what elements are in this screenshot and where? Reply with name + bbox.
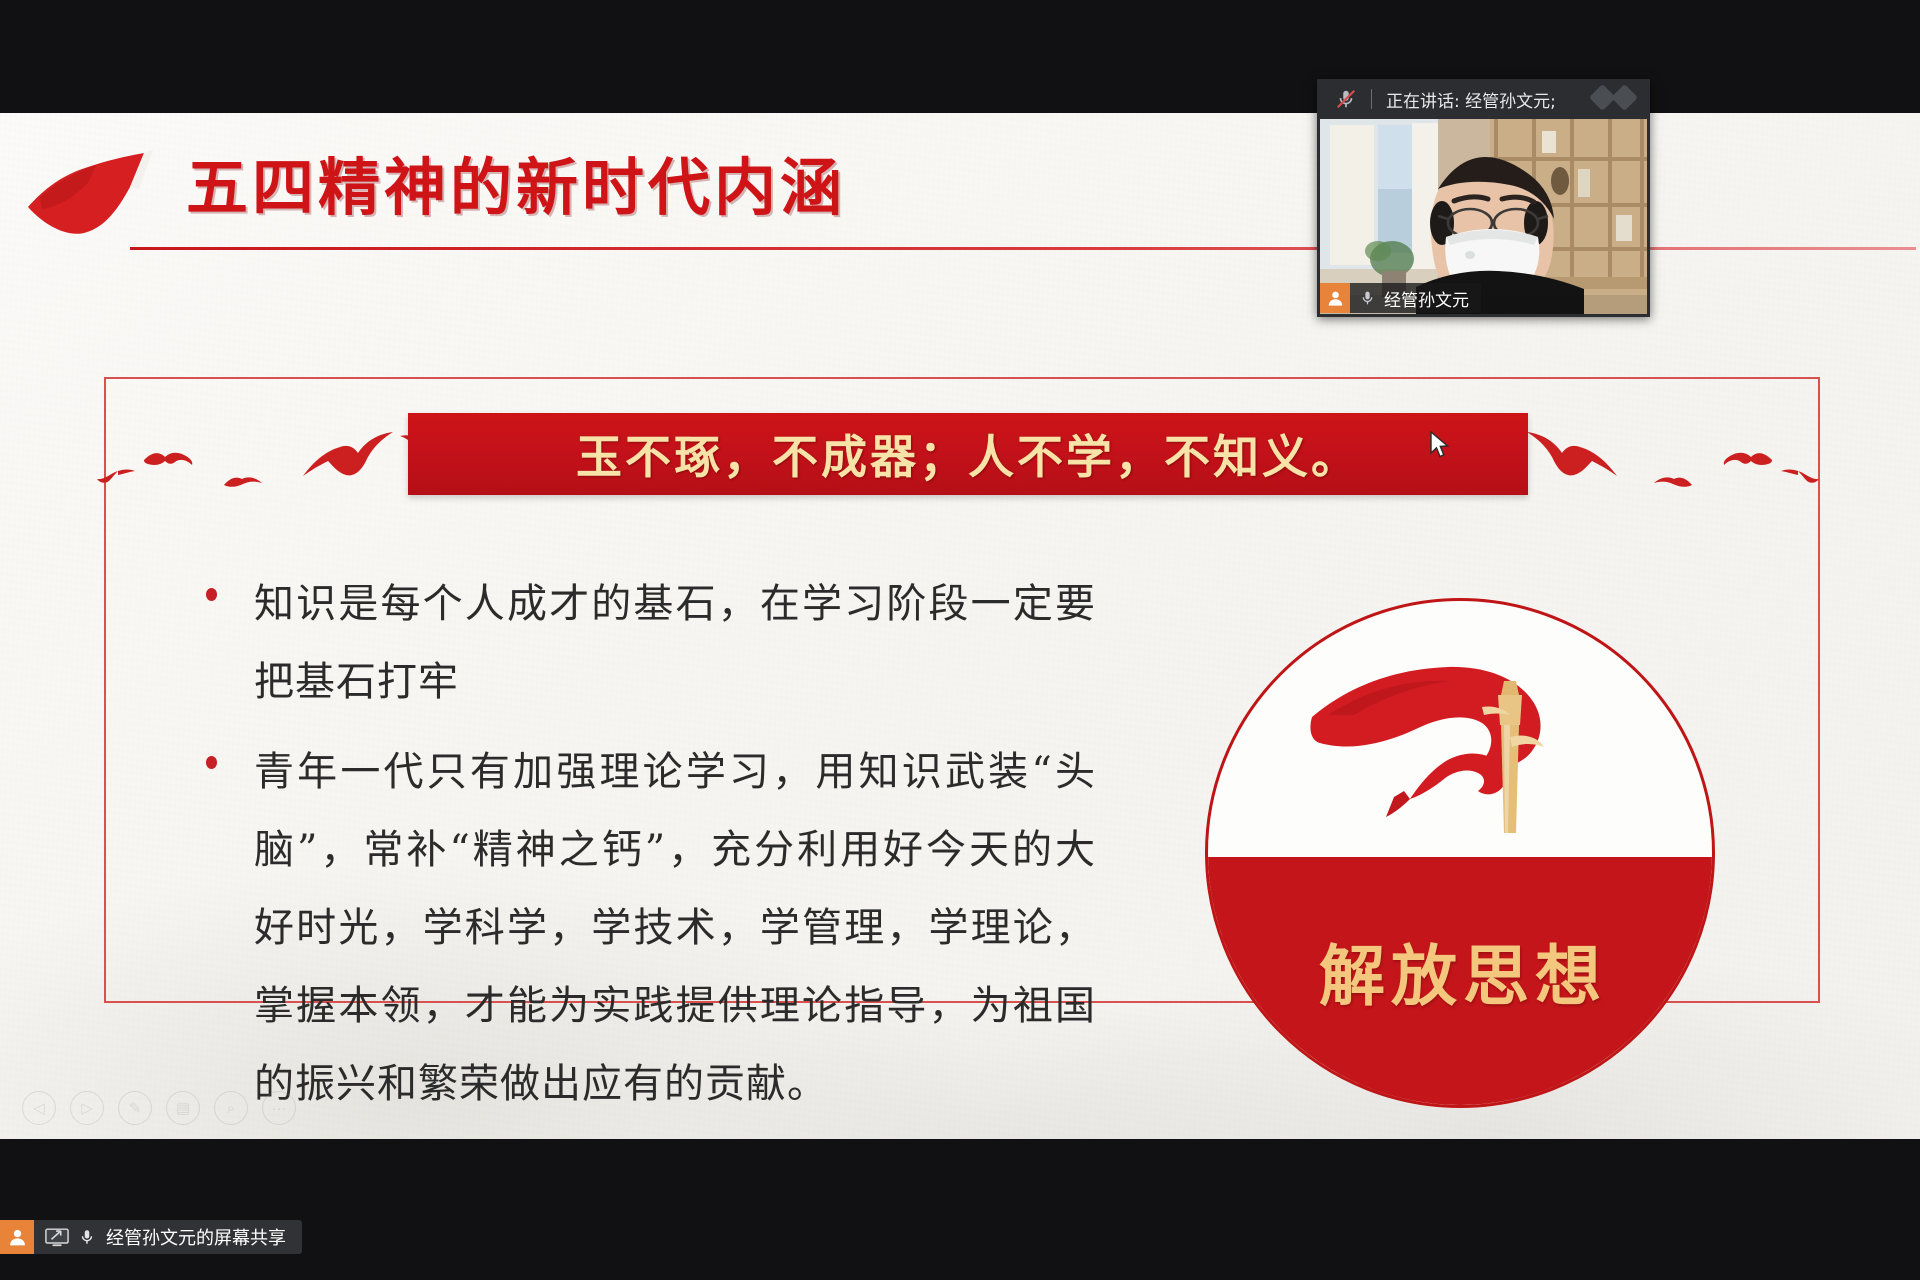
- bullet-list: 知识是每个人成才的基石，在学习阶段一定要把基石打牢 青年一代只有加强理论学习，用…: [196, 565, 1096, 1135]
- bird-icon: [1524, 431, 1620, 479]
- avatar-glyph: [7, 1227, 28, 1248]
- red-flag-torch-icon: [1298, 655, 1638, 845]
- bird-icon: [142, 449, 194, 469]
- avatar-icon: [0, 1220, 34, 1254]
- screen-share-label: 经管孙文元的屏幕共享: [96, 1224, 302, 1250]
- next-slide-icon[interactable]: ▷: [70, 1091, 104, 1125]
- screen-share-icon: [45, 1228, 69, 1247]
- microphone-icon: [78, 1226, 96, 1248]
- bird-icon: [1722, 449, 1774, 469]
- microphone-icon: [1359, 288, 1376, 308]
- avatar-icon: [1320, 283, 1350, 313]
- bird-icon: [300, 431, 396, 479]
- slide-toolbar[interactable]: ◁ ▷ ✎ ▤ ⌕ ···: [22, 1091, 296, 1125]
- quote-text: 玉不琢，不成器；人不学，不知义。: [576, 421, 1360, 487]
- emblem-circle: 解放思想: [1205, 598, 1715, 1108]
- pen-annotate-icon[interactable]: ✎: [118, 1091, 152, 1125]
- waving-flag-icon: [22, 149, 162, 235]
- mouse-cursor: [1428, 430, 1452, 460]
- chevron-collapse-icon[interactable]: [1593, 88, 1634, 107]
- list-item: 知识是每个人成才的基石，在学习阶段一定要把基石打牢: [196, 565, 1096, 721]
- bullet-dot-icon: [206, 588, 217, 601]
- zoom-search-icon[interactable]: ⌕: [214, 1091, 248, 1125]
- bird-icon: [1780, 467, 1820, 485]
- bullet-text: 知识是每个人成才的基石，在学习阶段一定要把基石打牢: [254, 565, 1096, 721]
- speaking-status-label: 正在讲话: 经管孙文元;: [1386, 87, 1556, 112]
- emblem-label: 解放思想: [1208, 923, 1715, 1019]
- floating-video-panel[interactable]: 正在讲话: 经管孙文元;: [1317, 79, 1650, 317]
- more-options-icon[interactable]: ···: [262, 1091, 296, 1125]
- save-icon[interactable]: ▤: [166, 1091, 200, 1125]
- participant-name-label: 经管孙文元: [1376, 286, 1481, 311]
- microphone-muted-icon[interactable]: [1335, 88, 1357, 110]
- quote-banner: 玉不琢，不成器；人不学，不知义。: [408, 413, 1528, 495]
- bullet-text: 青年一代只有加强理论学习，用知识武装“头脑”，常补“精神之钙”，充分利用好今天的…: [254, 733, 1096, 1123]
- list-item: 青年一代只有加强理论学习，用知识武装“头脑”，常补“精神之钙”，充分利用好今天的…: [196, 733, 1096, 1123]
- avatar-glyph: [1326, 289, 1345, 308]
- page-title: 五四精神的新时代内涵: [186, 141, 846, 237]
- bird-icon: [1652, 473, 1694, 489]
- previous-slide-icon[interactable]: ◁: [22, 1091, 56, 1125]
- bird-icon: [96, 467, 136, 485]
- header-divider: [1371, 89, 1372, 109]
- participant-nametag: 经管孙文元: [1320, 283, 1481, 313]
- bird-icon: [222, 473, 264, 489]
- chevron-shape: [1611, 84, 1638, 111]
- bottom-taskbar: 经管孙文元的屏幕共享: [0, 1139, 1920, 1280]
- screen-root: 五四精神的新时代内涵 玉不琢，不成器；人不学，不知义。 知识是每个人成才的基石，…: [0, 0, 1920, 1280]
- bullet-dot-icon: [206, 756, 217, 769]
- screen-share-chip[interactable]: 经管孙文元的屏幕共享: [0, 1220, 302, 1254]
- video-panel-header: 正在讲话: 经管孙文元;: [1317, 79, 1650, 119]
